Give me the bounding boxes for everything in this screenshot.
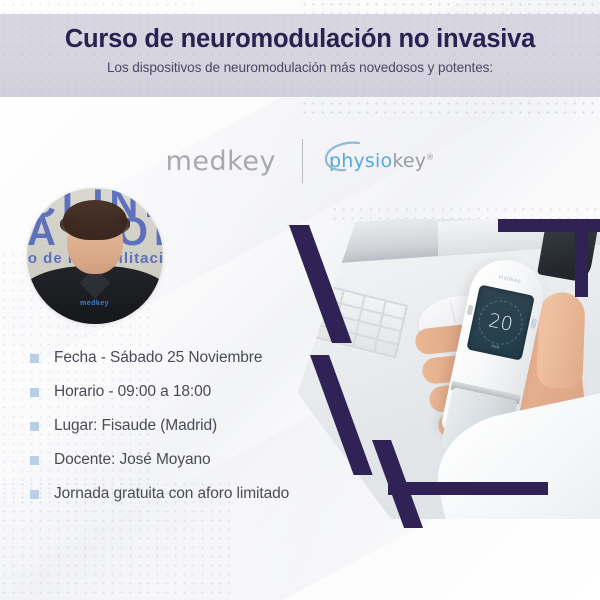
bullet-icon: [30, 422, 39, 431]
avatar: CLÍNICA A MORAL ro de Rehabilitación med…: [27, 188, 163, 324]
avatar-shirt-logo: medkey: [80, 300, 109, 307]
bullet-icon: [30, 456, 39, 465]
list-item: Horario - 09:00 a 18:00: [30, 375, 360, 409]
header-content: Curso de neuromodulación no invasiva Los…: [0, 25, 600, 75]
page-subtitle: Los dispositivos de neuromodulación más …: [0, 60, 600, 75]
medkey-logo: medkey: [166, 146, 276, 177]
poster-canvas: Curso de neuromodulación no invasiva Los…: [0, 0, 600, 600]
physiokey-swoosh-icon: [323, 140, 363, 174]
list-item: Lugar: Fisaude (Madrid): [30, 409, 360, 443]
header-band: Curso de neuromodulación no invasiva Los…: [0, 14, 600, 97]
list-item-label: Docente: José Moyano: [54, 451, 211, 469]
device-button-right: [530, 318, 537, 329]
accent-bracket-top-right-vertical: [575, 219, 588, 297]
page-title: Curso de neuromodulación no invasiva: [0, 25, 600, 54]
avatar-hair-sides: [60, 212, 130, 238]
logo-divider: [302, 139, 303, 183]
avatar-photo: CLÍNICA A MORAL ro de Rehabilitación med…: [27, 188, 163, 324]
bullet-icon: [30, 388, 39, 397]
list-item-label: Lugar: Fisaude (Madrid): [54, 417, 217, 435]
list-item-label: Fecha - Sábado 25 Noviembre: [54, 349, 262, 367]
physiokey-key-text: key: [392, 150, 426, 172]
device-brand-label: medkey: [498, 274, 522, 285]
list-item: Docente: José Moyano: [30, 443, 360, 477]
device-button-left: [467, 305, 474, 316]
physiokey-registered-mark: ®: [426, 153, 434, 162]
bullet-icon: [30, 490, 39, 499]
list-item-label: Horario - 09:00 a 18:00: [54, 383, 211, 401]
thumb: [536, 292, 585, 390]
accent-bracket-bottom-horizontal: [388, 482, 548, 495]
list-item: Jornada gratuita con aforo limitado: [30, 477, 360, 511]
event-details-list: Fecha - Sábado 25 Noviembre Horario - 09…: [30, 341, 360, 511]
dot-pattern-top-left: [0, 0, 200, 14]
device-screen: 20 min: [466, 284, 534, 360]
brand-logo-row: medkey physiokey®: [0, 132, 600, 190]
physiokey-logo: physiokey®: [329, 150, 434, 172]
avatar-shirt: medkey: [27, 266, 163, 324]
list-item-label: Jornada gratuita con aforo limitado: [54, 485, 289, 503]
mouse-seam: [450, 302, 456, 322]
bullet-icon: [30, 354, 39, 363]
